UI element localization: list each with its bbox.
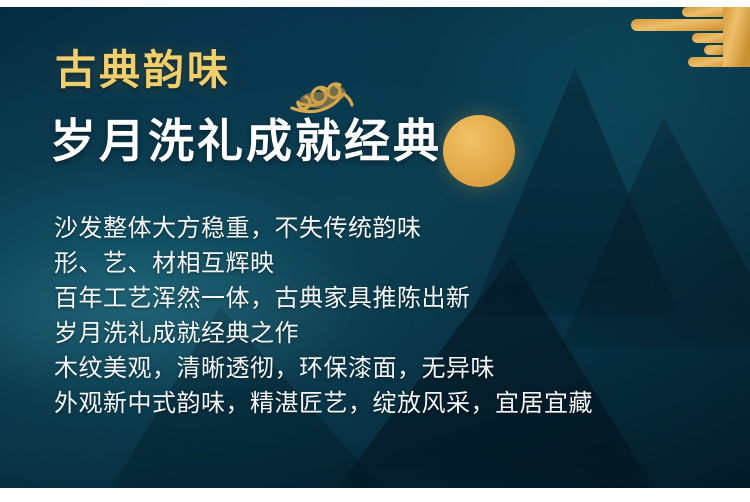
main-heading-text: 岁月洗礼成就经典 — [50, 118, 442, 164]
chinese-cloud-motif-icon — [288, 76, 354, 118]
chinese-cloud-ribbon-icon — [575, 7, 750, 79]
body-copy-line: 百年工艺浑然一体，古典家具推陈出新 — [54, 282, 714, 317]
body-copy-line: 沙发整体大方稳重，不失传统韵味 — [54, 212, 714, 247]
body-copy-line: 木纹美观，清晰透彻，环保漆面，无异味 — [54, 352, 714, 387]
body-copy-line: 形、艺、材相互辉映 — [54, 247, 714, 282]
gold-circle-highlight — [443, 115, 515, 187]
poster-canvas: 古典韵味 岁月洗礼成就经典 沙发整体大方稳重，不失传统韵味 形、艺、材相互辉映 — [0, 0, 750, 502]
body-copy-line: 外观新中式韵味，精湛匠艺，绽放风采，宜居宜藏 — [54, 387, 714, 422]
eyebrow-heading: 古典韵味 — [55, 50, 231, 91]
body-copy-block: 沙发整体大方稳重，不失传统韵味 形、艺、材相互辉映 百年工艺浑然一体，古典家具推… — [54, 212, 714, 422]
eyebrow-heading-text: 古典韵味 — [55, 50, 231, 91]
body-copy-line: 岁月洗礼成就经典之作 — [54, 317, 714, 352]
main-heading: 岁月洗礼成就经典 — [50, 118, 442, 184]
